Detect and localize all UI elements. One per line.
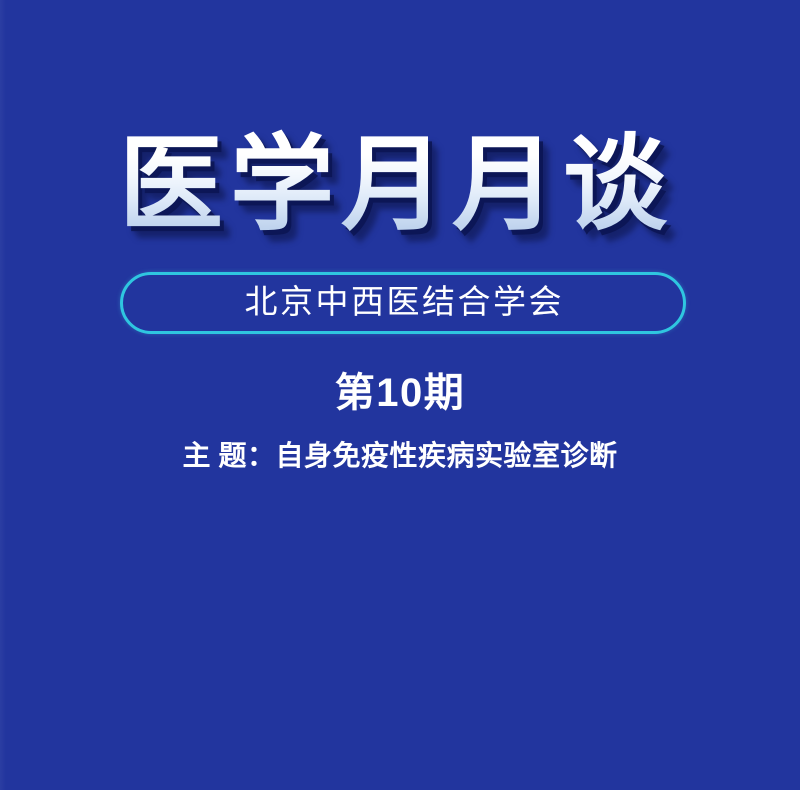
title-block: 医学月月谈 — [0, 126, 800, 246]
subject-line: 主 题：自身免疫性疾病实验室诊断 — [0, 440, 800, 474]
organization-name: 北京中西医结合学会 — [242, 285, 564, 321]
organization-pill: 北京中西医结合学会 — [120, 272, 686, 334]
page-title: 医学月月谈 — [119, 126, 681, 246]
poster-canvas: 医学月月谈 北京中西医结合学会 第10期 主 题：自身免疫性疾病实验室诊断 — [0, 0, 800, 790]
issue-number-label: 第10期 — [0, 370, 800, 416]
